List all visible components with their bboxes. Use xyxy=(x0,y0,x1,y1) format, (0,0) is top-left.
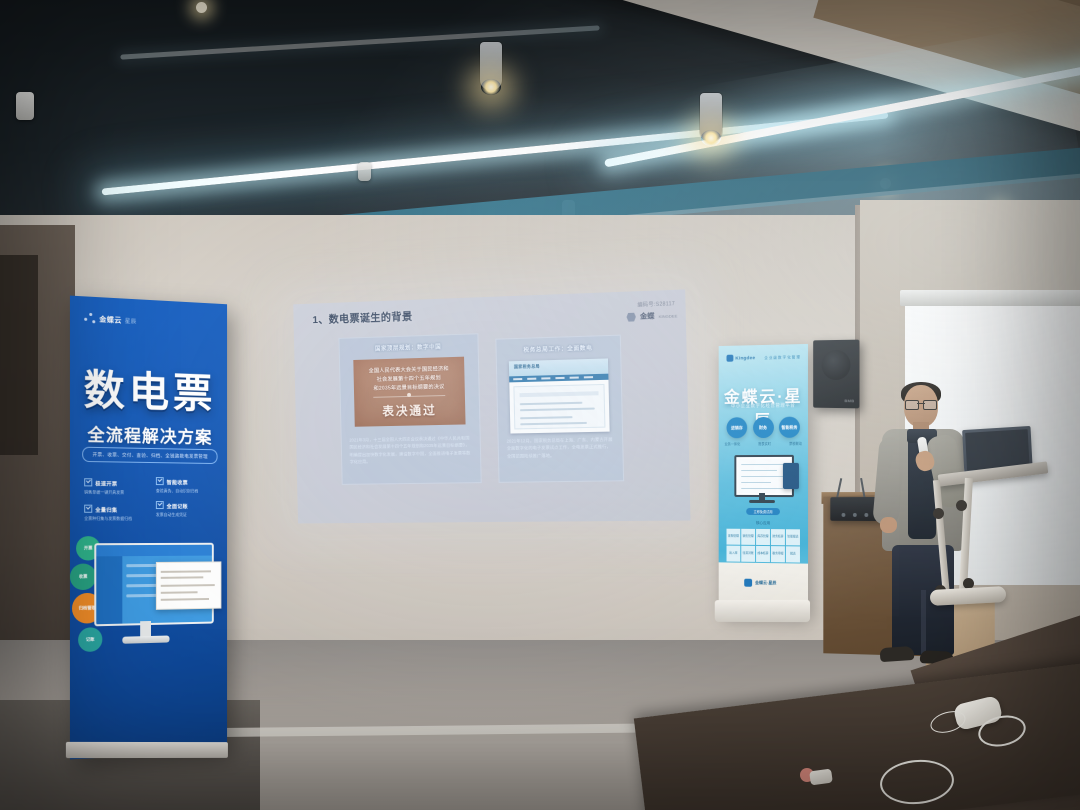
banner-left-badge-2: 收票 xyxy=(70,563,96,590)
caption-2: 账表实时 xyxy=(758,441,771,446)
presenter-leg-split xyxy=(921,590,926,656)
website-body xyxy=(513,384,605,430)
invoice-line xyxy=(161,570,211,572)
monitor-topbar xyxy=(96,545,212,557)
stand-knob-2 xyxy=(933,508,944,519)
slide-panel-right-header: 税务总局工作：全面数电 xyxy=(497,343,621,355)
nav-item xyxy=(570,376,579,378)
slide-panel-right: 税务总局工作：全面数电 国家税务总局 2021年12月， xyxy=(495,335,624,483)
banner-left-logo: 金蝶云 星辰 xyxy=(84,313,137,328)
smoke-detector-icon xyxy=(16,92,34,120)
banner-right-circle-1: 进销存 xyxy=(727,417,748,438)
website-text-line xyxy=(520,422,587,425)
wall-speaker: BMB xyxy=(813,340,859,409)
website-text-line xyxy=(520,416,572,419)
invoice-line xyxy=(161,584,215,586)
callout-line-3: 和2035年远景目标纲要的决议 xyxy=(360,382,459,393)
banner-left-logo-main: 金蝶云 xyxy=(99,314,122,325)
slide-brand-logo: 金蝶 KINGDEE xyxy=(626,310,677,322)
feature-4-desc: 发票自动生成凭证 xyxy=(156,512,216,518)
website-text-line xyxy=(520,408,595,412)
invoice-line xyxy=(161,576,204,578)
website-title: 国家税务总局 xyxy=(514,363,540,370)
monitor-line xyxy=(741,488,783,489)
projection-screen: 1、数电票诞生的背景 编码号:S28117 金蝶 KINGDEE 国家顶层规划：… xyxy=(293,289,690,523)
nav-item xyxy=(555,377,564,379)
kingdee-dots-icon xyxy=(84,313,96,326)
grid-item: 报表 xyxy=(786,546,800,562)
feature-3-desc: 全票种归集与发票数据归档 xyxy=(84,516,146,522)
website-highlight-bar xyxy=(520,391,599,397)
grid-item: 智能报表 xyxy=(786,529,800,545)
banner-right-grid-title: 核心应用 xyxy=(719,521,808,527)
slide-panel-left: 国家顶层规划：数字中国 全国人民代表大会关于国民经济和 社会发展第十四个五年规划… xyxy=(338,333,481,485)
nav-item xyxy=(584,376,593,378)
callout-result: 表决通过 xyxy=(354,401,465,420)
invoice-line xyxy=(161,598,209,600)
nav-item xyxy=(527,378,536,380)
caption-1: 业务一体化 xyxy=(725,441,741,446)
banner-left-feature-4: 全面记账 发票自动生成凭证 xyxy=(156,500,216,518)
banner-left-badge-4: 记账 xyxy=(78,627,102,652)
monitor-line xyxy=(741,470,777,471)
slide-callout-box: 全国人民代表大会关于国民经济和 社会发展第十四个五年规划 和2035年远景目标纲… xyxy=(353,357,465,427)
window-frame-top xyxy=(900,290,1080,306)
slide-brand-sub: KINGDEE xyxy=(659,313,678,319)
banner-left-invoice-mockup xyxy=(156,561,221,609)
grid-item: 成本核算 xyxy=(756,546,770,562)
banner-right-footer-logo: 金蝶云·星辰 xyxy=(744,579,776,588)
caption-3: 票税联动 xyxy=(789,441,802,446)
speaker-cone-icon xyxy=(822,350,851,380)
banner-right-monitor-foot xyxy=(749,500,775,503)
banner-left-logo-sub: 星辰 xyxy=(125,317,137,326)
callout-dot-icon xyxy=(407,393,411,397)
rollup-banner-right-base xyxy=(715,600,810,622)
monitor-line xyxy=(741,464,785,465)
banner-right-grid: 采购管理 销售管理 库存管理 财务核算 智能报表 出入库 往来对账 成本核算 税… xyxy=(727,529,800,563)
grid-item: 库存管理 xyxy=(756,529,770,545)
rollup-banner-right: Kingdee 企业级数字化管理 金蝶云·星辰 中小企业数字化经营管理平台 进销… xyxy=(719,344,808,616)
slide-panel-left-header: 国家顶层规划：数字中国 xyxy=(340,341,478,353)
spotlight-3 xyxy=(196,2,207,13)
rollup-banner-left: 金蝶云 星辰 数电票 全流程解决方案 开票、收票、交付、查验、归档、全链路数电发… xyxy=(70,296,227,760)
banner-left-pill: 开票、收票、交付、查验、归档、全链路数电发票管理 xyxy=(82,447,217,464)
presentation-room-photo: 1、数电票诞生的背景 编码号:S28117 金蝶 KINGDEE 国家顶层规划：… xyxy=(0,0,1080,810)
banner-right-circle-2: 财务 xyxy=(753,417,774,438)
presenter-shoe-left xyxy=(880,646,915,662)
banner-right-cta-button: 立即免费试用 xyxy=(746,508,780,515)
feature-1-desc: 销售单据一键开具发票 xyxy=(84,489,146,496)
grid-item: 往来对账 xyxy=(741,546,755,562)
kingdee-mark-icon xyxy=(727,355,734,362)
banner-right-logo-text: Kingdee xyxy=(735,355,755,360)
glasses-icon xyxy=(905,400,937,408)
grid-item: 销售管理 xyxy=(741,529,755,545)
banner-right-logo: Kingdee xyxy=(727,354,756,362)
banner-right-phone-mockup xyxy=(783,463,799,489)
banner-right-circles: 进销存 财务 智能税务 xyxy=(727,417,800,439)
presenter-hand-left xyxy=(880,517,897,533)
speaker-brand: BMB xyxy=(845,398,855,403)
banner-right-captions: 业务一体化 账表实时 票税联动 xyxy=(725,441,802,446)
banner-left-pill-text: 开票、收票、交付、查验、归档、全链路数电发票管理 xyxy=(93,451,208,459)
spotlight-2 xyxy=(700,93,722,141)
monitor-line xyxy=(741,482,771,483)
banner-left-headline: 数电票 xyxy=(80,369,219,415)
feature-3-title: 全量归集 xyxy=(95,508,117,514)
slide-title: 1、数电票诞生的背景 xyxy=(312,309,412,327)
slide-panel-left-body: 2021年3月，十三届全国人大四次会议表决通过《中华人民共和国国民经济和社会发展… xyxy=(349,434,472,465)
nav-item xyxy=(513,378,522,380)
slide-panel-right-body: 2021年12月，国家税务总局在上海、广东、内蒙古开展全面数字化的电子发票试点工… xyxy=(507,436,615,460)
feature-2-desc: 查验真伪、自动识别归档 xyxy=(156,488,216,494)
banner-right-subhead: 中小企业数字化经营管理平台 xyxy=(719,402,808,409)
check-icon xyxy=(84,478,92,486)
monitor-line xyxy=(741,476,787,477)
check-icon xyxy=(84,505,92,513)
check-icon xyxy=(156,501,164,509)
grid-item: 出入库 xyxy=(727,546,741,562)
banner-left-feature-2: 智能收票 查验真伪、自动识别归档 xyxy=(156,476,216,494)
left-wall-panel xyxy=(0,255,38,455)
slide-code: 编码号:S28117 xyxy=(637,300,675,309)
kingdee-mark-icon xyxy=(626,312,635,321)
banner-left-feature-1: 极速开票 销售单据一键开具发票 xyxy=(84,477,146,496)
feature-2-title: 智能收票 xyxy=(167,480,188,486)
monitor-foot xyxy=(122,635,169,643)
slide-brand-name: 金蝶 xyxy=(640,311,655,322)
ceiling-sensor-1 xyxy=(358,162,371,181)
invoice-line xyxy=(161,591,198,593)
grid-item: 税务申报 xyxy=(771,546,785,562)
spotlight-1 xyxy=(480,42,502,90)
grid-item: 采购管理 xyxy=(727,529,741,545)
check-icon xyxy=(156,477,164,485)
feature-4-title: 全面记账 xyxy=(167,504,188,510)
website-screenshot: 国家税务总局 xyxy=(509,358,610,433)
stand-knob-1 xyxy=(956,500,967,511)
rollup-banner-left-base xyxy=(66,742,228,758)
footer-logo-text: 金蝶云·星辰 xyxy=(755,580,776,586)
banner-right-tagline: 企业级数字化管理 xyxy=(764,355,801,361)
website-text-line xyxy=(520,402,583,405)
kingdee-mark-icon xyxy=(744,579,752,587)
grid-item: 财务核算 xyxy=(771,529,785,545)
monitor-sidebar xyxy=(96,556,122,624)
banner-left-subhead: 全流程解决方案 xyxy=(78,420,221,448)
banner-right-circle-3: 智能税务 xyxy=(779,417,800,438)
nav-item xyxy=(541,377,550,379)
banner-left-feature-3: 全量归集 全票种归集与发票数据归档 xyxy=(84,504,146,522)
feature-1-title: 极速开票 xyxy=(95,481,117,487)
